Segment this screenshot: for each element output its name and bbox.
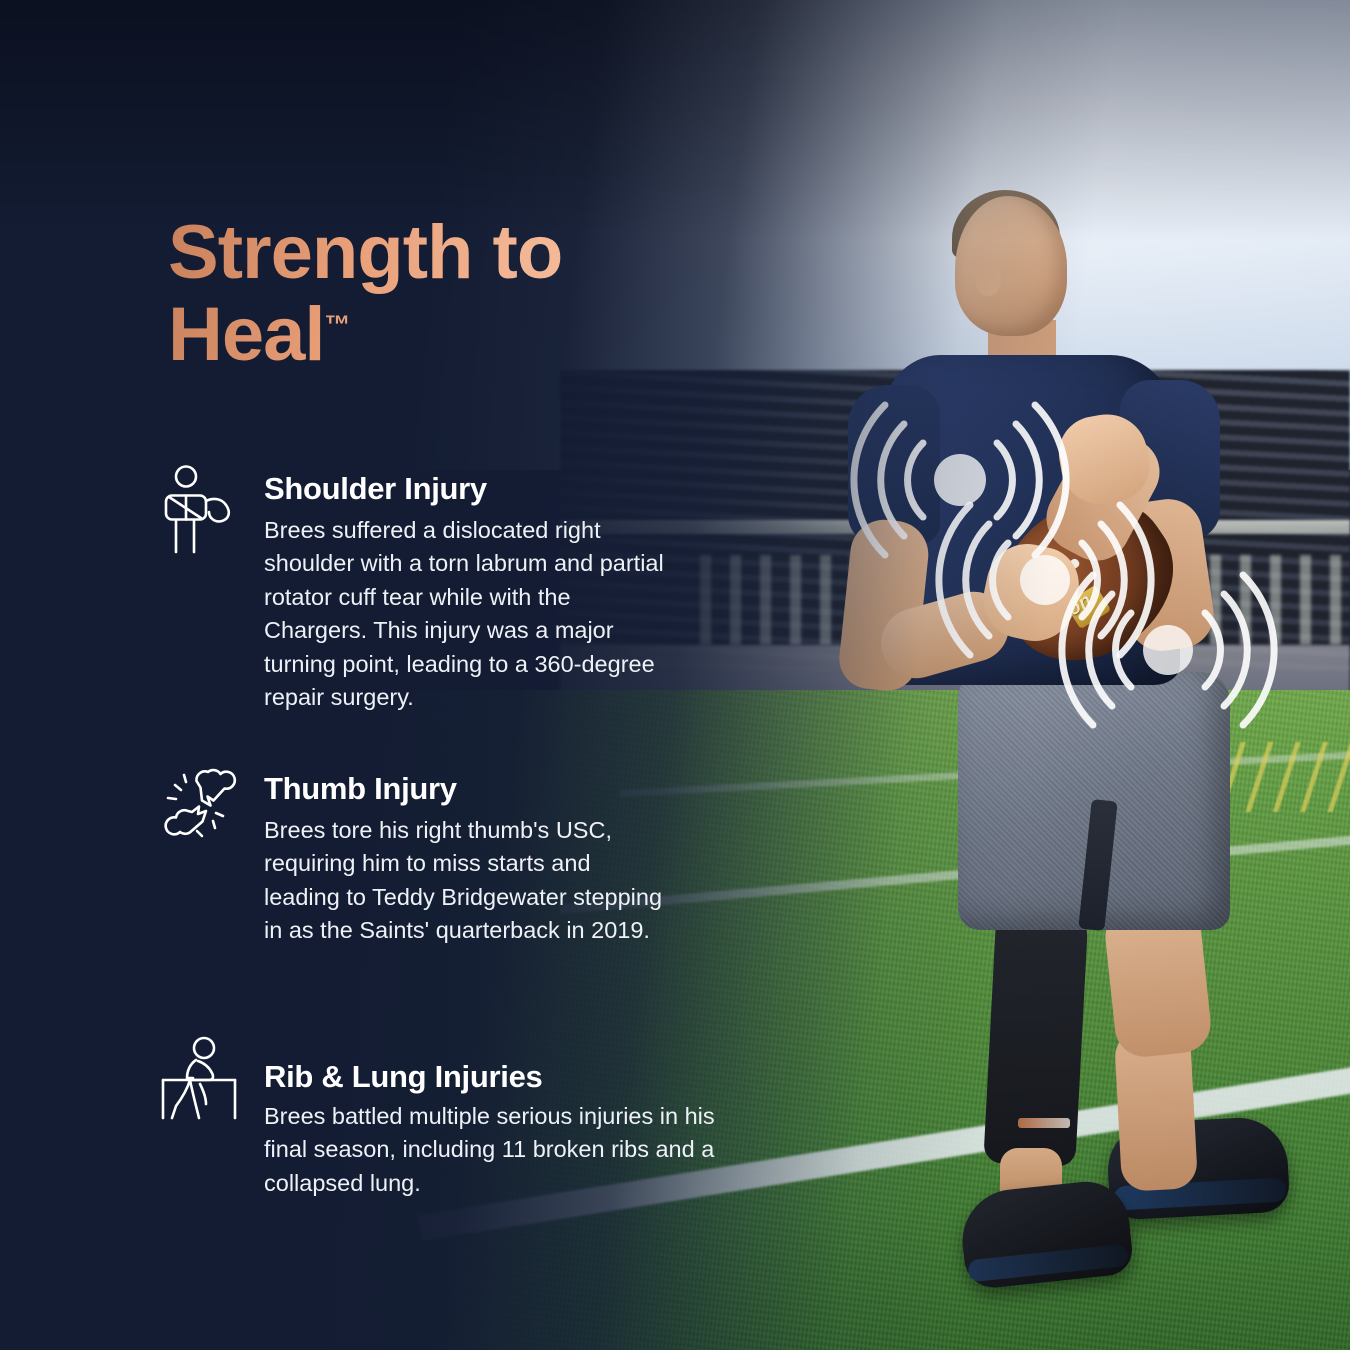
page-title: Strength toHeal™: [168, 212, 728, 376]
person-leaning-on-table-icon: [160, 1032, 242, 1200]
injury-item-thumb: Thumb Injury Brees tore his right thumb'…: [160, 762, 760, 948]
injury-title: Thumb Injury: [264, 772, 760, 806]
fractured-bone-icon: [160, 762, 242, 948]
title-line-1: Strength to: [168, 210, 562, 295]
content-column: Strength toHeal™ Shoulder Injury Brees s…: [0, 0, 760, 1350]
injury-description: Brees suffered a dislocated right should…: [264, 514, 664, 714]
person-arm-sling-icon: [160, 462, 242, 714]
injury-item-shoulder: Shoulder Injury Brees suffered a disloca…: [160, 462, 760, 714]
injury-title: Rib & Lung Injuries: [264, 1060, 760, 1094]
injury-text-block: Rib & Lung Injuries Brees battled multip…: [264, 1032, 760, 1200]
trademark-symbol: ™: [325, 310, 351, 340]
injury-text-block: Shoulder Injury Brees suffered a disloca…: [264, 462, 760, 714]
injury-text-block: Thumb Injury Brees tore his right thumb'…: [264, 762, 760, 948]
injury-description: Brees tore his right thumb's USC, requir…: [264, 814, 664, 947]
title-line-2: Heal: [168, 292, 325, 377]
infographic-canvas: Wilson: [0, 0, 1350, 1350]
injury-item-rib-lung: Rib & Lung Injuries Brees battled multip…: [160, 1032, 760, 1200]
injury-title: Shoulder Injury: [264, 472, 760, 506]
injury-description: Brees battled multiple serious injuries …: [264, 1100, 749, 1200]
